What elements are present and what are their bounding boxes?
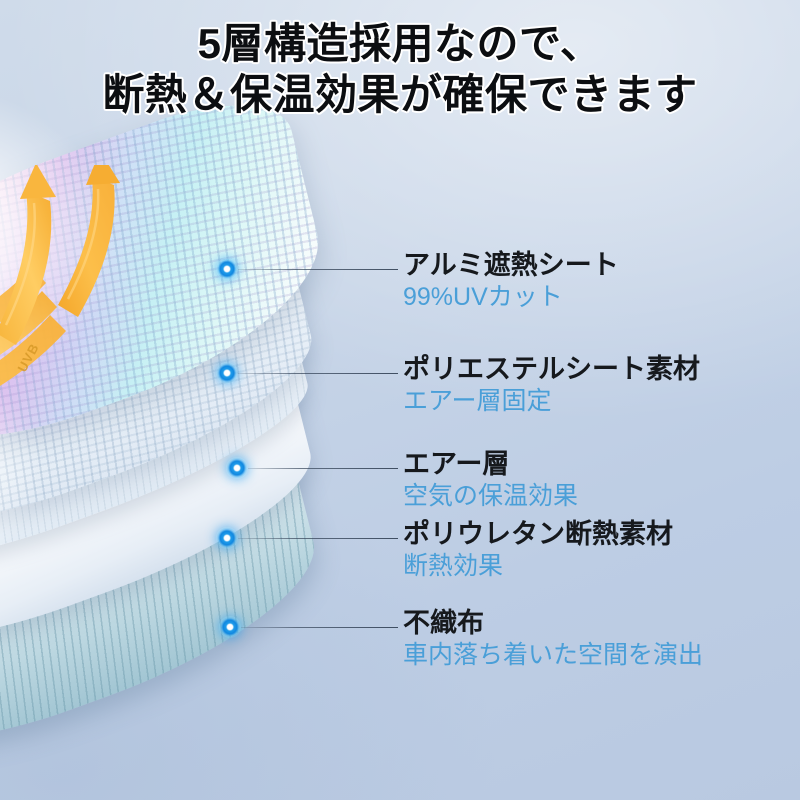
callout-leader-line-5	[241, 627, 398, 628]
infographic-canvas: UVB 5層構造採用なので、 断熱＆保温効果が確保できます アルミ遮熱シート99…	[0, 0, 800, 800]
callout-dot-4[interactable]	[216, 527, 238, 549]
layer-title-2: ポリエステルシート素材	[403, 354, 700, 384]
layer-subtitle-4: 断熱効果	[403, 552, 673, 582]
callout-dot-5[interactable]	[219, 616, 241, 638]
callout-label-2: ポリエステルシート素材エアー層固定	[403, 354, 700, 417]
layer-subtitle-1: 99%UVカット	[403, 283, 619, 313]
page-title: 5層構造採用なので、 断熱＆保温効果が確保できます	[0, 18, 800, 120]
layer-title-3: エアー層	[403, 449, 578, 479]
callout-leader-line-3	[248, 468, 398, 469]
callout-label-3: エアー層空気の保温効果	[403, 449, 578, 512]
callout-dot-3[interactable]	[226, 457, 248, 479]
callout-label-5: 不織布車内落ち着いた空間を演出	[403, 608, 703, 671]
layer-subtitle-2: エアー層固定	[403, 387, 700, 417]
callout-leader-line-4	[238, 538, 398, 539]
layer-title-5: 不織布	[403, 608, 703, 638]
product-layer-stack-illustration: UVB	[0, 70, 420, 730]
headline-line-2: 断熱＆保温効果が確保できます	[0, 69, 800, 120]
headline-line-1: 5層構造採用なので、	[0, 18, 800, 69]
callout-label-4: ポリウレタン断熱素材断熱効果	[403, 519, 673, 582]
layer-subtitle-5: 車内落ち着いた空間を演出	[403, 641, 703, 671]
callout-leader-line-2	[238, 373, 398, 374]
layer-title-1: アルミ遮熱シート	[403, 250, 619, 280]
callout-label-1: アルミ遮熱シート99%UVカット	[403, 250, 619, 313]
callout-dot-2[interactable]	[216, 362, 238, 384]
layer-title-4: ポリウレタン断熱素材	[403, 519, 673, 549]
callout-leader-line-1	[238, 269, 398, 270]
layer-subtitle-3: 空気の保温効果	[403, 482, 578, 512]
callout-dot-1[interactable]	[216, 258, 238, 280]
